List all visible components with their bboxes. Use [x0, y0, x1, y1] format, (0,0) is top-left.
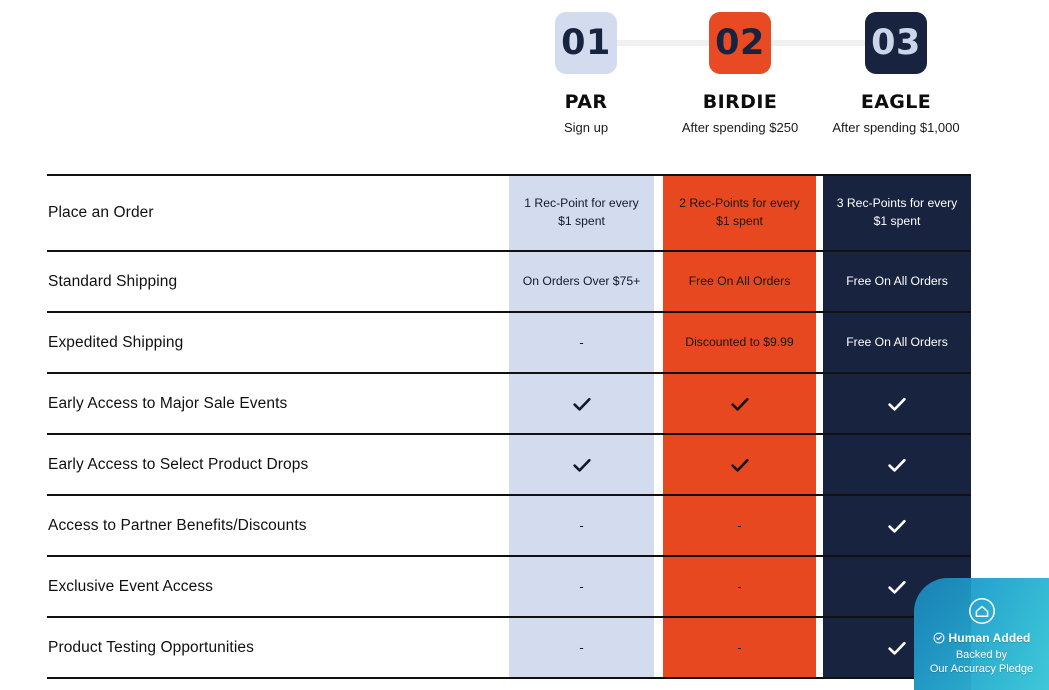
benefit-value-text: 3 Rec-Points for every $1 spent: [832, 195, 962, 230]
benefit-cell-tier-2: 2 Rec-Points for every $1 spent: [663, 176, 816, 250]
dash-icon: -: [579, 519, 583, 532]
benefit-cell-tier-2: -: [663, 618, 816, 677]
table-bottom-rule: [47, 677, 971, 679]
benefit-cell-tier-3: Free On All Orders: [823, 313, 971, 372]
check-icon: [570, 453, 594, 477]
home-icon: [914, 597, 1049, 625]
tier-column-eagle[interactable]: 03 EAGLE After spending $1,000: [819, 0, 973, 160]
benefit-value-text: Free On All Orders: [846, 334, 948, 352]
benefit-value-text: Discounted to $9.99: [685, 334, 793, 352]
table-row: Exclusive Event Access--: [47, 555, 971, 616]
tier-requirement-eagle: After spending $1,000: [819, 120, 973, 135]
benefit-cell-tier-1: -: [509, 557, 654, 616]
tier-badge-03: 03: [865, 12, 927, 74]
check-icon: [728, 392, 752, 416]
tier-name-birdie: BIRDIE: [663, 91, 817, 113]
feature-label: Product Testing Opportunities: [48, 618, 503, 677]
benefit-cell-tier-2: Free On All Orders: [663, 252, 816, 311]
trust-subtitle-line1: Backed by: [956, 649, 1007, 661]
table-row: Place an Order1 Rec-Point for every $1 s…: [47, 174, 971, 250]
benefits-comparison-table: Place an Order1 Rec-Point for every $1 s…: [47, 174, 971, 677]
tier-column-par[interactable]: 01 PAR Sign up: [509, 0, 663, 160]
benefit-value-text: 2 Rec-Points for every $1 spent: [672, 195, 807, 230]
trust-title-row: Human Added: [914, 631, 1049, 645]
dash-icon: -: [579, 336, 583, 349]
check-icon: [570, 392, 594, 416]
feature-label: Early Access to Major Sale Events: [48, 374, 503, 433]
benefit-cell-tier-1: [509, 435, 654, 494]
trust-subtitle-line2: Our Accuracy Pledge: [930, 663, 1033, 675]
dash-icon: -: [579, 580, 583, 593]
benefit-cell-tier-3: [823, 374, 971, 433]
tier-badge-01: 01: [555, 12, 617, 74]
tier-name-eagle: EAGLE: [819, 91, 973, 113]
check-icon: [885, 453, 909, 477]
feature-label: Place an Order: [48, 176, 503, 250]
feature-label: Standard Shipping: [48, 252, 503, 311]
table-row: Expedited Shipping-Discounted to $9.99Fr…: [47, 311, 971, 372]
dash-icon: -: [737, 641, 741, 654]
dash-icon: -: [579, 641, 583, 654]
tier-column-birdie[interactable]: 02 BIRDIE After spending $250: [663, 0, 817, 160]
benefit-cell-tier-2: Discounted to $9.99: [663, 313, 816, 372]
trust-title: Human Added: [949, 631, 1031, 645]
benefit-cell-tier-3: [823, 496, 971, 555]
check-icon: [885, 575, 909, 599]
feature-label: Exclusive Event Access: [48, 557, 503, 616]
tier-header: 01 PAR Sign up 02 BIRDIE After spending …: [509, 0, 971, 160]
benefit-cell-tier-2: -: [663, 496, 816, 555]
feature-label: Access to Partner Benefits/Discounts: [48, 496, 503, 555]
dash-icon: -: [737, 519, 741, 532]
benefit-cell-tier-3: Free On All Orders: [823, 252, 971, 311]
check-icon: [885, 636, 909, 660]
tier-requirement-par: Sign up: [509, 120, 663, 135]
table-row: Standard ShippingOn Orders Over $75+Free…: [47, 250, 971, 311]
feature-label: Expedited Shipping: [48, 313, 503, 372]
table-row: Early Access to Major Sale Events: [47, 372, 971, 433]
tier-name-par: PAR: [509, 91, 663, 113]
table-row: Early Access to Select Product Drops: [47, 433, 971, 494]
benefit-cell-tier-1: [509, 374, 654, 433]
benefit-cell-tier-1: -: [509, 313, 654, 372]
dash-icon: -: [737, 580, 741, 593]
benefit-cell-tier-1: 1 Rec-Point for every $1 spent: [509, 176, 654, 250]
benefit-cell-tier-1: -: [509, 496, 654, 555]
benefit-value-text: Free On All Orders: [689, 273, 791, 291]
check-icon: [728, 453, 752, 477]
human-added-trust-widget[interactable]: Human Added Backed by Our Accuracy Pledg…: [914, 578, 1049, 690]
check-icon: [885, 514, 909, 538]
check-icon: [885, 392, 909, 416]
benefit-value-text: Free On All Orders: [846, 273, 948, 291]
benefit-cell-tier-3: [823, 435, 971, 494]
benefit-cell-tier-1: -: [509, 618, 654, 677]
table-row: Access to Partner Benefits/Discounts--: [47, 494, 971, 555]
benefit-cell-tier-2: [663, 435, 816, 494]
benefit-cell-tier-3: 3 Rec-Points for every $1 spent: [823, 176, 971, 250]
benefit-cell-tier-1: On Orders Over $75+: [509, 252, 654, 311]
feature-label: Early Access to Select Product Drops: [48, 435, 503, 494]
table-row: Product Testing Opportunities--: [47, 616, 971, 677]
tier-badge-02: 02: [709, 12, 771, 74]
benefit-cell-tier-2: [663, 374, 816, 433]
verified-badge-icon: [933, 632, 945, 644]
tier-requirement-birdie: After spending $250: [663, 120, 817, 135]
benefit-cell-tier-2: -: [663, 557, 816, 616]
trust-subtitle: Backed by Our Accuracy Pledge: [914, 648, 1049, 676]
benefit-value-text: On Orders Over $75+: [523, 273, 641, 291]
trust-widget-content: Human Added Backed by Our Accuracy Pledg…: [914, 631, 1049, 676]
benefit-value-text: 1 Rec-Point for every $1 spent: [518, 195, 645, 230]
